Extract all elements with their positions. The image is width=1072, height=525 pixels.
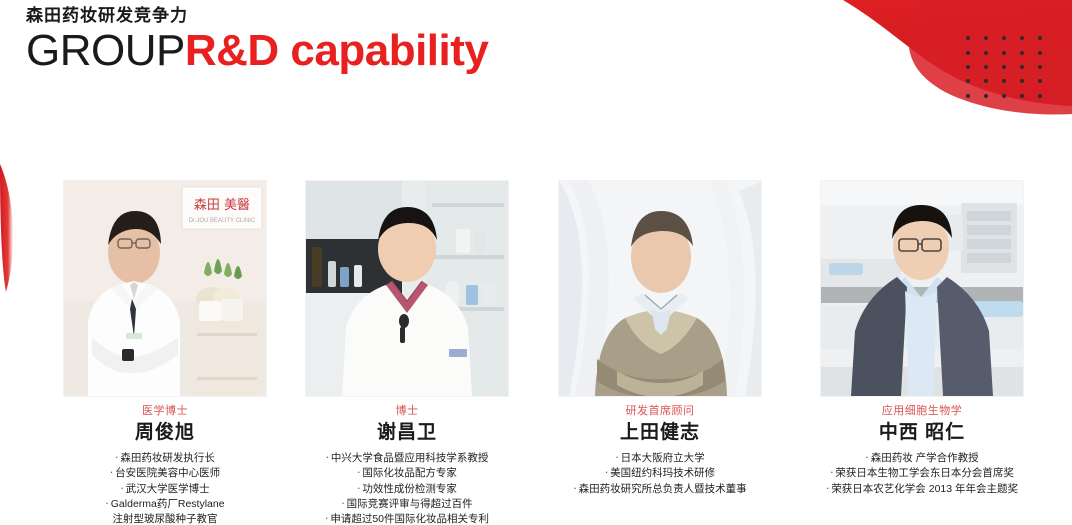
profile-credentials: ‧日本大阪府立大学 ‧美国纽约科玛技术研修 ‧森田药妆研究所总负责人暨技术董事 bbox=[540, 451, 780, 497]
slide-root: 森田药妆研发竞争力 GROUPR&D capability 森田 美醫 Dr.J… bbox=[0, 0, 1072, 525]
dot-cell bbox=[1031, 74, 1049, 88]
credential-item: ‧森田药妆研发执行长 bbox=[45, 451, 285, 466]
dot-grid bbox=[959, 31, 1049, 103]
profile-photo bbox=[559, 181, 761, 396]
grid-dot bbox=[966, 51, 970, 55]
grid-dot bbox=[984, 94, 988, 98]
bullet-marker: ‧ bbox=[115, 452, 118, 464]
bullet-marker: ‧ bbox=[830, 467, 833, 479]
dot-cell bbox=[995, 60, 1013, 74]
credential-text: 功效性成份检测专家 bbox=[362, 483, 457, 495]
dot-cell bbox=[959, 31, 977, 45]
bullet-marker: ‧ bbox=[325, 513, 328, 525]
bullet-marker: ‧ bbox=[826, 483, 829, 495]
credential-item: ‧功效性成份检测专家 bbox=[287, 482, 527, 497]
dot-cell bbox=[977, 45, 995, 59]
credential-item: ‧Galderma药厂Restylane bbox=[45, 497, 285, 512]
bullet-marker: ‧ bbox=[605, 467, 608, 479]
grid-dot bbox=[1020, 94, 1024, 98]
profile-credentials: ‧森田药妆 产学合作教授 ‧荣获日本生物工学会东日本分会首席奖 ‧荣获日本农艺化… bbox=[797, 451, 1047, 497]
profile-credentials: ‧中兴大学食品暨应用科技学系教授 ‧国际化妆品配方专家 ‧功效性成份检测专家 ‧… bbox=[287, 451, 527, 525]
credential-item: ‧武汉大学医学博士 bbox=[45, 482, 285, 497]
credential-text: 荣获日本生物工学会东日本分会首席奖 bbox=[835, 467, 1014, 479]
grid-dot bbox=[966, 94, 970, 98]
profile-name: 上田健志 bbox=[559, 422, 761, 445]
bullet-marker: ‧ bbox=[110, 467, 113, 479]
profile-photo: 森田 美醫 Dr.JOU BEAUTY CLINIC bbox=[64, 181, 266, 396]
credential-text: 申请超过50件国际化妆品相关专利 bbox=[330, 513, 489, 525]
grid-dot bbox=[966, 65, 970, 69]
credential-item: ‧日本大阪府立大学 bbox=[540, 451, 780, 466]
grid-dot bbox=[1038, 51, 1042, 55]
profile-photo-image bbox=[559, 181, 761, 396]
credential-text: Galderma药厂Restylane bbox=[111, 498, 225, 510]
profile-photo bbox=[821, 181, 1023, 396]
grid-dot bbox=[1002, 94, 1006, 98]
bullet-marker: ‧ bbox=[573, 483, 576, 495]
dot-cell bbox=[1013, 74, 1031, 88]
grid-dot bbox=[966, 36, 970, 40]
grid-dot bbox=[966, 79, 970, 83]
bullet-marker: ‧ bbox=[615, 452, 618, 464]
profile-role: 医学博士 bbox=[64, 404, 266, 418]
credential-text: 武汉大学医学博士 bbox=[126, 483, 210, 495]
grid-dot bbox=[1002, 79, 1006, 83]
dot-cell bbox=[1031, 31, 1049, 45]
bullet-marker: ‧ bbox=[865, 452, 868, 464]
profile-name: 周俊旭 bbox=[64, 422, 266, 445]
dot-cell bbox=[995, 89, 1013, 103]
dot-cell bbox=[995, 45, 1013, 59]
grid-dot bbox=[1038, 65, 1042, 69]
grid-dot bbox=[1038, 36, 1042, 40]
profile-card: 博士 谢昌卫 ‧中兴大学食品暨应用科技学系教授 ‧国际化妆品配方专家 ‧功效性成… bbox=[306, 181, 508, 525]
grid-dot bbox=[1038, 79, 1042, 83]
profile-name: 谢昌卫 bbox=[306, 422, 508, 445]
credential-item: ‧国际竞赛评审与得超过百件 bbox=[287, 497, 527, 512]
credential-item: ‧中兴大学食品暨应用科技学系教授 bbox=[287, 451, 527, 466]
credential-text: 国际竞赛评审与得超过百件 bbox=[347, 498, 473, 510]
dot-cell bbox=[977, 89, 995, 103]
dot-cell bbox=[1031, 89, 1049, 103]
grid-dot bbox=[1020, 36, 1024, 40]
credential-text: 国际化妆品配方专家 bbox=[362, 467, 457, 479]
profile-card: 研发首席顾问 上田健志 ‧日本大阪府立大学 ‧美国纽约科玛技术研修 ‧森田药妆研… bbox=[559, 181, 761, 507]
credential-item: ‧国际化妆品配方专家 bbox=[287, 466, 527, 481]
credential-text: 中兴大学食品暨应用科技学系教授 bbox=[331, 452, 489, 464]
profile-card: 应用细胞生物学 中西 昭仁 ‧森田药妆 产学合作教授 ‧荣获日本生物工学会东日本… bbox=[821, 181, 1023, 507]
dot-cell bbox=[1013, 31, 1031, 45]
credential-text: 森田药妆 产学合作教授 bbox=[871, 452, 979, 464]
credential-text: 日本大阪府立大学 bbox=[621, 452, 705, 464]
dot-cell bbox=[1013, 60, 1031, 74]
grid-dot bbox=[1020, 51, 1024, 55]
bullet-marker: ‧ bbox=[105, 498, 108, 510]
dot-cell bbox=[959, 60, 977, 74]
grid-dot bbox=[984, 36, 988, 40]
dot-cell bbox=[959, 74, 977, 88]
svg-text:Dr.JOU BEAUTY CLINIC: Dr.JOU BEAUTY CLINIC bbox=[189, 218, 256, 224]
dot-cell bbox=[959, 89, 977, 103]
credential-text: 森田药妆研究所总负责人暨技术董事 bbox=[579, 483, 747, 495]
profile-name: 中西 昭仁 bbox=[821, 422, 1023, 445]
profile-role: 研发首席顾问 bbox=[559, 404, 761, 418]
page-title: GROUPR&D capability bbox=[26, 28, 488, 74]
dot-cell bbox=[977, 60, 995, 74]
grid-dot bbox=[1020, 79, 1024, 83]
credential-item: 注射型玻尿酸种子教官 bbox=[45, 512, 285, 525]
bullet-marker: ‧ bbox=[341, 498, 344, 510]
grid-dot bbox=[984, 79, 988, 83]
dot-cell bbox=[977, 31, 995, 45]
dot-cell bbox=[1031, 45, 1049, 59]
credential-item: ‧森田药妆 产学合作教授 bbox=[797, 451, 1047, 466]
grid-dot bbox=[1020, 65, 1024, 69]
credential-text: 注射型玻尿酸种子教官 bbox=[113, 513, 218, 525]
dot-cell bbox=[959, 45, 977, 59]
bullet-marker: ‧ bbox=[357, 467, 360, 479]
profile-role: 博士 bbox=[306, 404, 508, 418]
bullet-marker: ‧ bbox=[357, 483, 360, 495]
svg-text:森田 美醫: 森田 美醫 bbox=[194, 198, 250, 213]
page-title-group: GROUP bbox=[26, 26, 185, 75]
dot-cell bbox=[1013, 89, 1031, 103]
dot-cell bbox=[1031, 60, 1049, 74]
grid-dot bbox=[984, 51, 988, 55]
credential-text: 美国纽约科玛技术研修 bbox=[610, 467, 715, 479]
credential-text: 森田药妆研发执行长 bbox=[120, 452, 215, 464]
profile-photo-image bbox=[306, 181, 508, 396]
dot-cell bbox=[977, 74, 995, 88]
profile-credentials: ‧森田药妆研发执行长 ‧台安医院美容中心医师 ‧武汉大学医学博士 ‧Galder… bbox=[45, 451, 285, 525]
slide-header: 森田药妆研发竞争力 GROUPR&D capability bbox=[26, 6, 488, 75]
credential-text: 荣获日本农艺化学会 2013 年年会主题奖 bbox=[831, 483, 1018, 495]
bullet-marker: ‧ bbox=[120, 483, 123, 495]
page-title-rd: R&D capability bbox=[185, 26, 489, 75]
grid-dot bbox=[1038, 94, 1042, 98]
dot-cell bbox=[995, 31, 1013, 45]
profile-photo bbox=[306, 181, 508, 396]
left-edge-arc-shape bbox=[0, 164, 13, 292]
grid-dot bbox=[1002, 51, 1006, 55]
credential-item: ‧荣获日本生物工学会东日本分会首席奖 bbox=[797, 466, 1047, 481]
dot-cell bbox=[1013, 45, 1031, 59]
credential-item: ‧美国纽约科玛技术研修 bbox=[540, 466, 780, 481]
dot-cell bbox=[995, 74, 1013, 88]
grid-dot bbox=[1002, 65, 1006, 69]
credential-text: 台安医院美容中心医师 bbox=[115, 467, 220, 479]
bullet-marker: ‧ bbox=[326, 452, 329, 464]
profile-role: 应用细胞生物学 bbox=[821, 404, 1023, 418]
credential-item: ‧申请超过50件国际化妆品相关专利 bbox=[287, 512, 527, 525]
profile-card: 森田 美醫 Dr.JOU BEAUTY CLINIC bbox=[64, 181, 266, 525]
profile-photo-image: 森田 美醫 Dr.JOU BEAUTY CLINIC bbox=[64, 181, 266, 396]
header-subtitle: 森田药妆研发竞争力 bbox=[26, 6, 488, 26]
credential-item: ‧台安医院美容中心医师 bbox=[45, 466, 285, 481]
profile-photo-image bbox=[821, 181, 1023, 396]
grid-dot bbox=[984, 65, 988, 69]
credential-item: ‧荣获日本农艺化学会 2013 年年会主题奖 bbox=[797, 482, 1047, 497]
credential-item: ‧森田药妆研究所总负责人暨技术董事 bbox=[540, 482, 780, 497]
grid-dot bbox=[1002, 36, 1006, 40]
